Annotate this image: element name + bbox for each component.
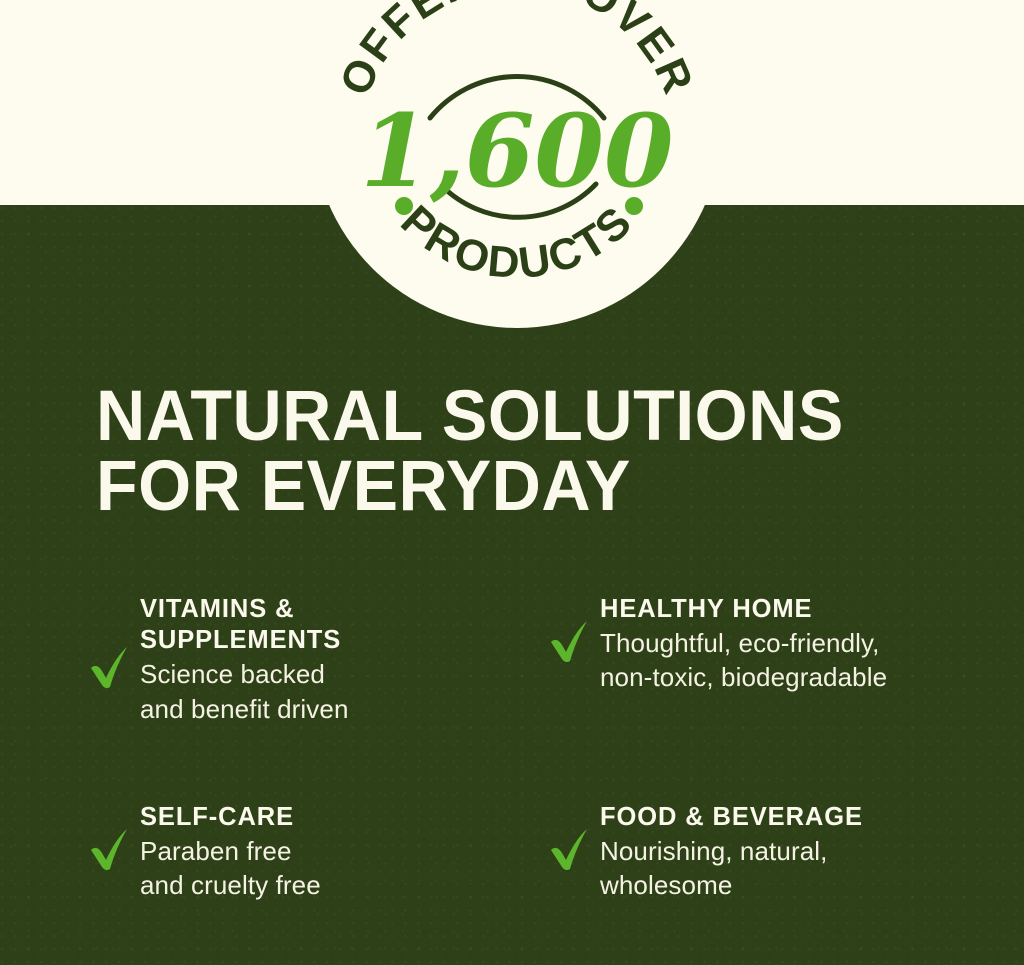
feature-description: Science backed and benefit driven [140,657,349,726]
headline-line-2: FOR EVERYDAY [96,452,941,522]
feature-description: Nourishing, natural, wholesome [600,834,863,903]
feature-item-healthy-home: HEALTHY HOME Thoughtful, eco-friendly, n… [548,592,988,800]
seal-product-count: 1,600 [360,92,673,210]
feature-title: VITAMINS & SUPPLEMENTS [140,594,349,656]
feature-list: VITAMINS & SUPPLEMENTS Science backed an… [88,592,988,903]
feature-title: SELF-CARE [140,802,321,833]
feature-title: FOOD & BEVERAGE [600,802,863,833]
product-count-seal: OFFERING OVER PRODUCTS 1,600 [312,0,722,328]
feature-text-block: VITAMINS & SUPPLEMENTS Science backed an… [140,592,349,726]
page-title: NATURAL SOLUTIONS FOR EVERYDAY [96,382,941,523]
feature-item-vitamins-supplements: VITAMINS & SUPPLEMENTS Science backed an… [88,592,548,800]
feature-description: Thoughtful, eco-friendly, non-toxic, bio… [600,626,887,695]
feature-text-block: FOOD & BEVERAGE Nourishing, natural, who… [600,800,863,903]
feature-title: HEALTHY HOME [600,594,887,625]
promo-banner: OFFERING OVER PRODUCTS 1,600 NATURAL SOL… [0,0,1024,965]
feature-text-block: SELF-CARE Paraben free and cruelty free [140,800,321,903]
feature-item-self-care: SELF-CARE Paraben free and cruelty free [88,800,548,903]
checkmark-icon [548,826,590,872]
feature-item-food-beverage: FOOD & BEVERAGE Nourishing, natural, who… [548,800,988,903]
headline-line-1: NATURAL SOLUTIONS [96,382,941,452]
feature-description: Paraben free and cruelty free [140,834,321,903]
feature-text-block: HEALTHY HOME Thoughtful, eco-friendly, n… [600,592,887,695]
seal-top-arc-label: OFFERING OVER [331,0,704,102]
checkmark-icon [88,644,130,690]
checkmark-icon [548,618,590,664]
checkmark-icon [88,826,130,872]
